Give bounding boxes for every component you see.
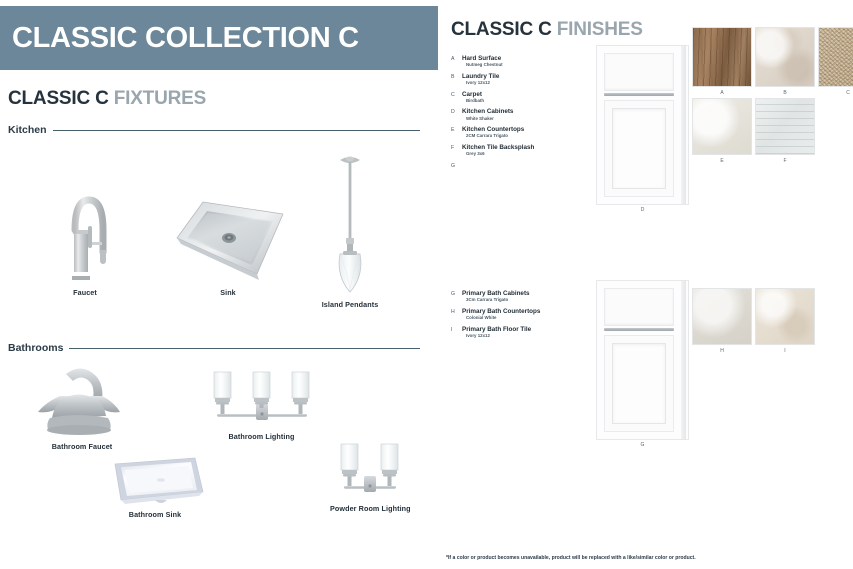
kitchen-faucet-icon (42, 180, 128, 288)
cabinet-side-panel (681, 46, 686, 204)
fixture-caption: Bathroom Sink (99, 510, 211, 519)
legend-name: Carpet (462, 91, 484, 98)
finishes-heading-primary: CLASSIC C (451, 19, 552, 40)
legend-letter: F (451, 144, 462, 157)
legend-sub: Colonial White (462, 315, 540, 320)
legend-name: Kitchen Tile Backsplash (462, 144, 534, 151)
swatch-label: H (692, 348, 752, 354)
fixtures-panel: CLASSIC COLLECTION C CLASSIC C FIXTURES … (0, 0, 438, 569)
finishes-legend-top: A Hard Surface Nutmeg Chestnut B Laundry… (451, 55, 611, 174)
legend-sub: White Shaker (462, 116, 513, 121)
kitchen-cabinet-door-image (596, 45, 689, 205)
cabinet-lower-door (604, 335, 674, 432)
swatch-tile (692, 288, 752, 345)
swatch-label: I (755, 348, 815, 354)
cabinet-side-panel (681, 281, 686, 439)
legend-item: H Primary Bath Countertops Colonial Whit… (451, 308, 611, 321)
fixture-kitchen-faucet: Faucet (42, 180, 128, 297)
swatch-label: E (692, 158, 752, 164)
legend-name: Primary Bath Countertops (462, 308, 540, 315)
swatch-tile (818, 27, 853, 87)
fixture-powder-room-lighting: Powder Room Lighting (330, 442, 410, 513)
kitchen-sink-icon (165, 192, 291, 288)
swatch-tile (755, 27, 815, 87)
finishes-heading: CLASSIC C FINISHES (451, 19, 643, 41)
cabinet-drawer-handle (604, 328, 674, 331)
legend-name: Kitchen Cabinets (462, 108, 513, 115)
fixture-bathroom-faucet: Bathroom Faucet (24, 360, 140, 451)
collection-title-banner: CLASSIC COLLECTION C (0, 6, 438, 70)
legend-name: Primary Bath Cabinets (462, 290, 530, 297)
legend-letter: I (451, 326, 462, 339)
swatch-primary-bath-countertop: H (692, 288, 752, 345)
legend-sub: Nutmeg Chestnut (462, 62, 503, 67)
legend-sub: Grey 3x6 (462, 151, 534, 156)
swatch-label: B (755, 90, 815, 96)
section-label-bathrooms: Bathrooms (8, 342, 69, 354)
legend-letter: A (451, 55, 462, 68)
two-light-vanity-icon (330, 442, 410, 504)
three-light-vanity-icon (203, 370, 320, 432)
page-title: CLASSIC COLLECTION C (0, 22, 359, 55)
fixture-island-pendants: Island Pendants (310, 150, 390, 309)
legend-sub: 3Cm Carrara Trigato (462, 297, 530, 302)
swatch-tile (755, 288, 815, 345)
legend-name: Kitchen Countertops (462, 126, 524, 133)
fixture-caption: Sink (165, 288, 291, 297)
swatch-tile (692, 98, 752, 155)
legend-sub: Ivory 12x12 (462, 333, 531, 338)
legend-item: B Laundry Tile Ivory 12x12 (451, 73, 611, 86)
disclaimer-note: *If a color or product becomes unavailab… (446, 555, 696, 561)
legend-item: F Kitchen Tile Backsplash Grey 3x6 (451, 144, 611, 157)
cabinet-drawer (604, 288, 674, 326)
finishes-panel: CLASSIC C FINISHES A Hard Surface Nutmeg… (438, 0, 853, 569)
section-divider-bathrooms (69, 348, 420, 349)
legend-item: D Kitchen Cabinets White Shaker (451, 108, 611, 121)
swatch-label: F (755, 158, 815, 164)
swatch-primary-bath-floor-tile: I (755, 288, 815, 345)
fixture-bathroom-sink: Bathroom Sink (99, 452, 211, 519)
section-header-kitchen: Kitchen (8, 124, 420, 136)
legend-item: G (451, 162, 611, 169)
legend-item: E Kitchen Countertops 2CM Carrara Trigat… (451, 126, 611, 139)
section-divider-kitchen (53, 130, 420, 131)
swatch-label: C (818, 90, 853, 96)
fixture-caption: Faucet (42, 288, 128, 297)
legend-letter: H (451, 308, 462, 321)
cabinet-lower-door (604, 100, 674, 197)
legend-item: A Hard Surface Nutmeg Chestnut (451, 55, 611, 68)
legend-sub: 2CM Carrara Trigato (462, 133, 524, 138)
cabinet-door-panel (612, 108, 666, 189)
cabinet-label-g: G (596, 442, 689, 448)
fixture-caption: Bathroom Lighting (203, 432, 320, 441)
legend-letter: G (451, 162, 462, 169)
legend-letter: C (451, 91, 462, 104)
bathroom-faucet-icon (24, 360, 140, 442)
fixture-caption: Powder Room Lighting (330, 504, 410, 513)
fixture-bathroom-lighting: Bathroom Lighting (203, 370, 320, 441)
pendant-light-icon (310, 150, 390, 300)
legend-name: Laundry Tile (462, 73, 499, 80)
swatch-carpet: C (818, 27, 853, 87)
section-header-bathrooms: Bathrooms (8, 342, 420, 354)
swatch-kitchen-countertop: E (692, 98, 752, 155)
cabinet-drawer-handle (604, 93, 674, 96)
swatch-label: A (692, 90, 752, 96)
legend-name: Primary Bath Floor Tile (462, 326, 531, 333)
legend-item: I Primary Bath Floor Tile Ivory 12x12 (451, 326, 611, 339)
cabinet-drawer (604, 53, 674, 91)
swatch-tile (755, 98, 815, 155)
legend-letter: E (451, 126, 462, 139)
legend-letter: B (451, 73, 462, 86)
finishes-legend-bottom: G Primary Bath Cabinets 3Cm Carrara Trig… (451, 290, 611, 343)
finishes-heading-secondary: FINISHES (557, 19, 643, 40)
swatch-laundry-tile: B (755, 27, 815, 87)
fixture-caption: Bathroom Faucet (24, 442, 140, 451)
primary-bath-cabinet-door-image (596, 280, 689, 440)
legend-item: G Primary Bath Cabinets 3Cm Carrara Trig… (451, 290, 611, 303)
cabinet-door-panel (612, 343, 666, 424)
cabinet-label-d: D (596, 207, 689, 213)
legend-letter: G (451, 290, 462, 303)
fixtures-heading-secondary: FIXTURES (114, 88, 206, 109)
swatch-hard-surface: A (692, 27, 752, 87)
legend-letter: D (451, 108, 462, 121)
swatch-kitchen-backsplash: F (755, 98, 815, 155)
fixture-kitchen-sink: Sink (165, 192, 291, 297)
fixtures-heading-primary: CLASSIC C (8, 88, 109, 109)
legend-item: C Carpet Birdbath (451, 91, 611, 104)
fixture-caption: Island Pendants (310, 300, 390, 309)
legend-sub: Birdbath (462, 98, 484, 103)
legend-sub: Ivory 12x12 (462, 80, 499, 85)
legend-name: Hard Surface (462, 55, 503, 62)
swatch-tile (692, 27, 752, 87)
undermount-sink-icon (99, 452, 211, 510)
fixtures-heading: CLASSIC C FIXTURES (8, 88, 206, 110)
section-label-kitchen: Kitchen (8, 124, 53, 136)
